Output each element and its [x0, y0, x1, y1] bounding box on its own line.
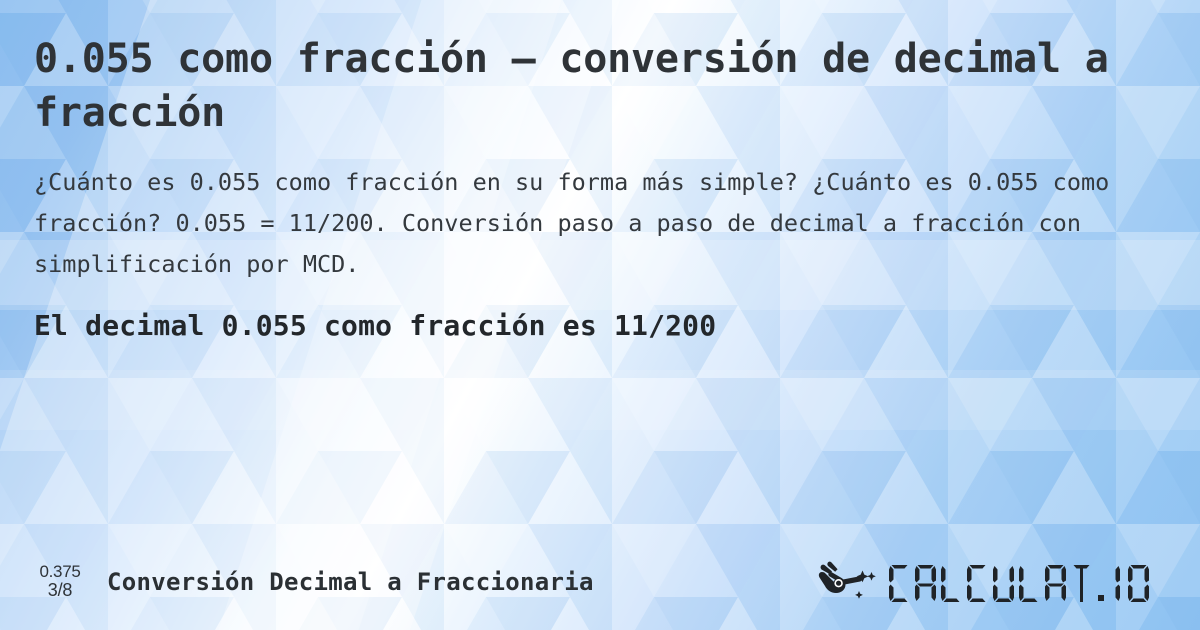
page-description: ¿Cuánto es 0.055 como fracción en su for…: [34, 162, 1144, 285]
answer-statement: El decimal 0.055 como fracción es 11/200: [34, 309, 1166, 342]
page-title: 0.055 como fracción – conversión de deci…: [34, 32, 1109, 140]
calculatio-logo[interactable]: CALCULAT.IO: [816, 560, 1176, 604]
hand-holding-magic-wand-icon: [816, 560, 882, 604]
calculatio-wordmark: [888, 562, 1176, 602]
tool-title: Conversión Decimal a Fraccionaria: [107, 568, 594, 596]
decimal-to-fraction-icon-decimal: 0.375: [28, 563, 92, 581]
footer-left-group: 0.375 3/8 Conversión Decimal a Fracciona…: [28, 563, 594, 601]
social-share-card: 0.055 como fracción – conversión de deci…: [0, 0, 1200, 630]
decimal-to-fraction-icon: 0.375 3/8: [28, 563, 92, 601]
decimal-to-fraction-icon-fraction: 3/8: [28, 581, 92, 600]
card-footer: 0.375 3/8 Conversión Decimal a Fracciona…: [0, 534, 1200, 630]
